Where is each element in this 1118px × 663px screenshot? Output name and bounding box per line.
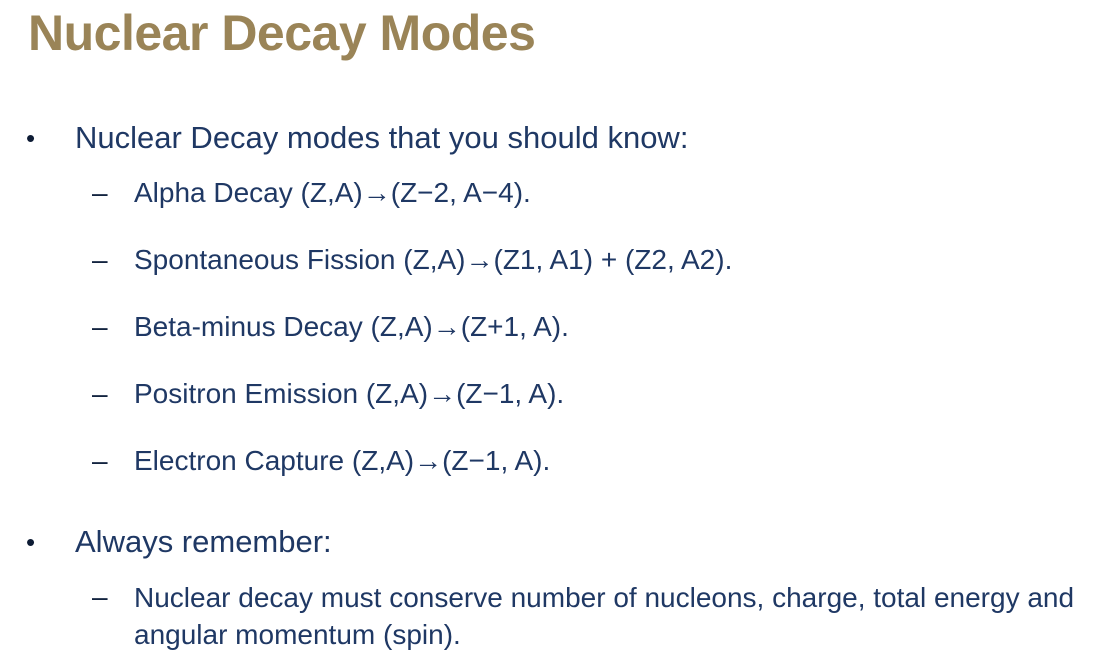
bullet-level1-decay-modes: • Nuclear Decay modes that you should kn… [0, 118, 1118, 158]
bullet-dash-icon: – [92, 242, 118, 278]
bullet-dash-icon: – [92, 175, 118, 211]
bullet-dash-icon: – [92, 309, 118, 345]
bullet-level1-always-remember: • Always remember: [0, 522, 1118, 562]
bullet-text: Spontaneous Fission (Z,A)→(Z1, A1) + (Z2… [134, 244, 732, 275]
bullet-dash-icon: – [92, 443, 118, 479]
section-spacer [0, 510, 1118, 522]
bullet-level2-conservation-note: – Nuclear decay must conserve number of … [0, 579, 1118, 653]
bullet-level2-spontaneous-fission: – Spontaneous Fission (Z,A)→(Z1, A1) + (… [0, 242, 1118, 278]
page-title: Nuclear Decay Modes [28, 2, 535, 64]
slide-body: • Nuclear Decay modes that you should kn… [0, 118, 1118, 653]
slide-canvas: Nuclear Decay Modes • Nuclear Decay mode… [0, 0, 1118, 663]
bullet-text: Nuclear Decay modes that you should know… [75, 120, 688, 155]
bullet-level2-alpha-decay: – Alpha Decay (Z,A)→(Z−2, A−4). [0, 175, 1118, 211]
bullet-level2-positron-emission: – Positron Emission (Z,A)→(Z−1, A). [0, 376, 1118, 412]
bullet-dash-icon: – [92, 376, 118, 412]
bullet-level2-beta-minus-decay: – Beta-minus Decay (Z,A)→(Z+1, A). [0, 309, 1118, 345]
bullet-text: Positron Emission (Z,A)→(Z−1, A). [134, 378, 564, 409]
bullet-text: Always remember: [75, 524, 332, 559]
bullet-text: Electron Capture (Z,A)→(Z−1, A). [134, 445, 550, 476]
bullet-text: Nuclear decay must conserve number of nu… [134, 582, 1074, 650]
bullet-text: Alpha Decay (Z,A)→(Z−2, A−4). [134, 177, 531, 208]
bullet-dash-icon: – [92, 579, 118, 615]
bullet-level2-electron-capture: – Electron Capture (Z,A)→(Z−1, A). [0, 443, 1118, 479]
bullet-dot-icon: • [26, 118, 48, 158]
bullet-text: Beta-minus Decay (Z,A)→(Z+1, A). [134, 311, 569, 342]
bullet-dot-icon: • [26, 522, 48, 562]
